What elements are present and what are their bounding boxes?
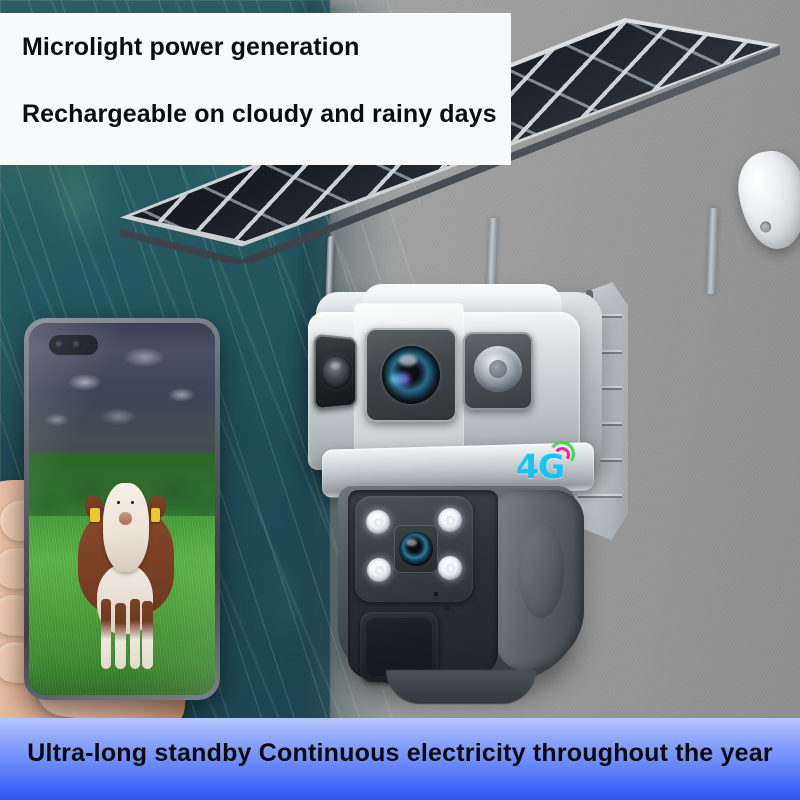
cow-leg-rear-right [142, 601, 152, 669]
lens-glass-center [382, 346, 440, 404]
headline-line-1: Microlight power generation [22, 33, 511, 62]
cow-head [103, 483, 149, 572]
cow-eye-left [117, 501, 120, 505]
4g-badge-label: 4G [516, 450, 564, 483]
phone-punch-hole-camera [49, 335, 97, 355]
footer-banner-text: Ultra-long standby Continuous electricit… [27, 739, 773, 768]
4g-badge: 4G [516, 440, 582, 488]
microphone-hole [434, 592, 438, 596]
lens-module-right [463, 332, 533, 410]
front-camera-primary-icon [55, 340, 64, 349]
led-spotlight-bottom-left [367, 558, 391, 582]
ptz-lens-plate [355, 496, 473, 602]
solar-panel-mount-bracket [733, 146, 800, 253]
footer-banner: Ultra-long standby Continuous electricit… [0, 718, 800, 800]
front-camera-secondary-icon [72, 340, 81, 349]
cow-muzzle [119, 512, 131, 524]
headline-line-2: Rechargeable on cloudy and rainy days [22, 100, 511, 129]
led-spotlight-bottom-right [438, 556, 462, 580]
smartphone [24, 318, 220, 700]
led-spotlight-top-left [366, 510, 390, 534]
security-camera: 4G [300, 240, 640, 700]
lens-glass-left [321, 354, 352, 389]
headline-text-box: Microlight power generation Rechargeable… [0, 13, 511, 165]
ptz-base-shadow [386, 670, 536, 704]
cow-leg-front-right [115, 603, 125, 669]
ptz-housing-side [496, 490, 584, 670]
lens-module-center [365, 328, 457, 422]
ptz-lens-housing [394, 525, 438, 573]
cow-leg-front-left [101, 599, 111, 669]
cow-ear-tag-left [90, 508, 99, 522]
ptz-sensor-dot [445, 606, 450, 611]
led-spotlight-top-right [438, 508, 462, 532]
cow-leg-rear-left [130, 599, 140, 669]
lens-module-left [314, 334, 357, 411]
phone-screen [29, 323, 215, 695]
cow-ear-tag-right [151, 508, 160, 522]
lens-glass-right [474, 346, 522, 392]
ptz-lens-glass [399, 532, 433, 566]
screen-cow [74, 479, 178, 672]
product-marketing-image: 4G [0, 0, 800, 800]
cow-eye-right [131, 501, 134, 505]
